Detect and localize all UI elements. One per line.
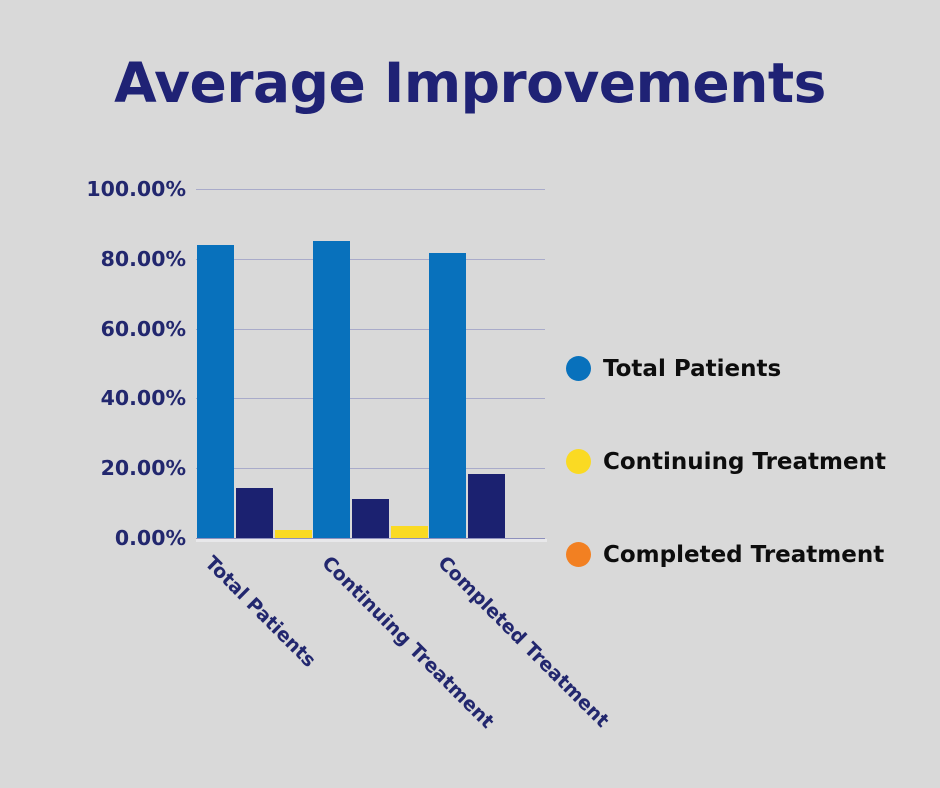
plot-area	[196, 189, 545, 538]
bar-total-patients-total-patients	[197, 245, 234, 538]
legend-item[interactable]: Continuing Treatment	[566, 415, 896, 508]
legend-swatch-circle-icon	[566, 356, 591, 381]
legend-swatch-circle-icon	[566, 542, 591, 567]
y-axis-tick-label: 60.00%	[76, 317, 186, 341]
y-axis-tick-label: 0.00%	[76, 526, 186, 550]
chart-title: Average Improvements	[0, 55, 940, 113]
bar-continuing-treatment-continuing-treatment	[352, 499, 389, 538]
y-axis-tick-label: 40.00%	[76, 386, 186, 410]
bar-continuing-treatment-completed-treatment	[391, 526, 428, 538]
chart-canvas: Average Improvements 0.00%20.00%40.00%60…	[0, 0, 940, 788]
bar-total-patients-completed-treatment	[275, 530, 312, 538]
bar-total-patients-continuing-treatment	[236, 488, 273, 538]
gridline	[196, 329, 545, 330]
bar-continuing-treatment-total-patients	[313, 241, 350, 538]
gridline	[196, 259, 545, 260]
y-axis-tick-label: 20.00%	[76, 456, 186, 480]
bar-completed-treatment-total-patients	[429, 253, 466, 538]
legend-item[interactable]: Completed Treatment	[566, 508, 896, 601]
legend-item-label: Completed Treatment	[603, 542, 884, 568]
y-axis-tick-label: 100.00%	[76, 177, 186, 201]
x-axis-tick-label: Total Patients	[201, 552, 321, 672]
gridline	[196, 398, 545, 399]
gridline	[196, 468, 545, 469]
x-axis-line	[196, 539, 547, 542]
bar-completed-treatment-continuing-treatment	[468, 474, 505, 538]
gridline	[196, 189, 545, 190]
legend-item-label: Total Patients	[603, 356, 781, 382]
legend-swatch-circle-icon	[566, 449, 591, 474]
y-axis-tick-labels: 0.00%20.00%40.00%60.00%80.00%100.00%	[76, 189, 186, 538]
legend-item[interactable]: Total Patients	[566, 322, 896, 415]
y-axis-tick-label: 80.00%	[76, 247, 186, 271]
legend-item-label: Continuing Treatment	[603, 449, 886, 475]
chart-legend: Total PatientsContinuing TreatmentComple…	[566, 322, 896, 601]
